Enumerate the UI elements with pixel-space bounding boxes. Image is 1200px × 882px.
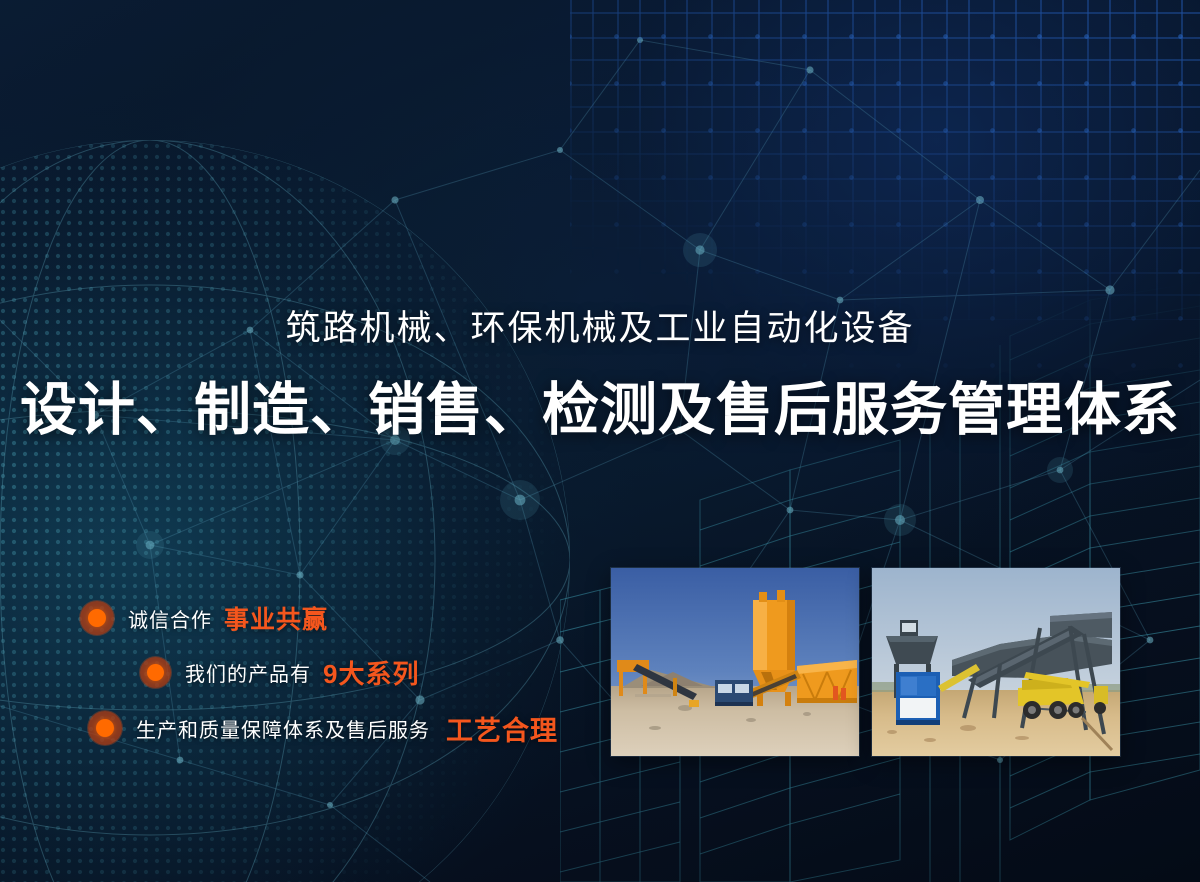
- bullet-dot-icon: [140, 657, 171, 688]
- feature-bullet-list: 诚信合作 事业共赢 我们的产品有 9大系列 生产和质量保障体系及售后服务 工艺合…: [0, 592, 600, 754]
- promo-banner: 筑路机械、环保机械及工业自动化设备 设计、制造、销售、检测及售后服务管理体系 诚…: [0, 0, 1200, 882]
- list-item: 我们的产品有 9大系列: [0, 646, 600, 698]
- bullet-highlight: 9大系列: [323, 654, 419, 691]
- bullet-dot-icon: [88, 711, 122, 745]
- banner-headline: 设计、制造、销售、检测及售后服务管理体系: [0, 364, 1200, 446]
- mobile-crushing-screening-plant-photo: [872, 568, 1120, 756]
- bullet-highlight: 事业共赢: [224, 600, 328, 636]
- concrete-batching-plant-photo: [611, 568, 859, 756]
- list-item: 生产和质量保障体系及售后服务 工艺合理: [0, 702, 600, 754]
- bullet-highlight: 工艺合理: [446, 709, 558, 748]
- banner-content: 筑路机械、环保机械及工业自动化设备 设计、制造、销售、检测及售后服务管理体系 诚…: [0, 0, 1200, 882]
- bullet-text: 生产和质量保障体系及售后服务: [136, 714, 430, 743]
- banner-subtitle: 筑路机械、环保机械及工业自动化设备: [0, 300, 1200, 351]
- bullet-dot-icon: [80, 601, 114, 635]
- bullet-text: 诚信合作: [128, 604, 212, 633]
- list-item: 诚信合作 事业共赢: [0, 592, 600, 644]
- bullet-text: 我们的产品有: [185, 658, 311, 687]
